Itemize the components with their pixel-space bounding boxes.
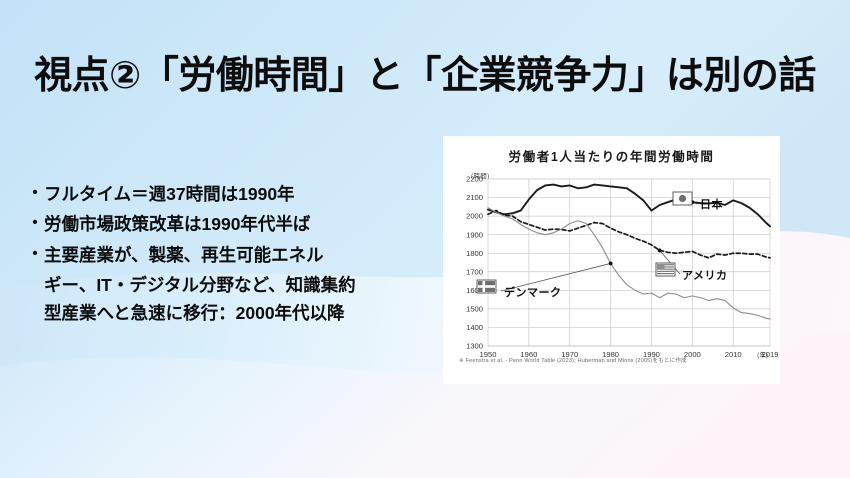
bullet-text: 労働市場政策改革は1990年代半ば: [44, 210, 426, 238]
y-tick-label: 2000: [466, 212, 483, 221]
list-item: • 主要産業が、製薬、再生可能エネル: [26, 241, 426, 269]
y-tick-label: 2200: [466, 175, 483, 184]
chart-card: 労働者1人当たりの年間労働時間 (時間) (年) 130014001500160…: [443, 136, 780, 384]
bullet-marker-icon: •: [26, 241, 44, 267]
y-tick-label: 1700: [466, 267, 483, 276]
y-tick-label: 1900: [466, 230, 483, 239]
bullet-text-continued: 型産業へと急速に移行：2000年代以降: [44, 299, 426, 327]
legend-label-usa: アメリカ: [682, 267, 727, 283]
y-tick-label: 1400: [466, 323, 483, 332]
bullet-text: 主要産業が、製薬、再生可能エネル: [44, 241, 426, 269]
bullet-marker-icon: •: [26, 180, 44, 206]
list-item: • 労働市場政策改革は1990年代半ば: [26, 210, 426, 238]
list-item: • フルタイム＝週37時間は1990年: [26, 180, 426, 208]
page-title: 視点②「労働時間」と「企業競争力」は別の話: [0, 54, 850, 99]
denmark-flag-icon: [477, 280, 496, 293]
bullet-text-continued: ギー、IT・デジタル分野など、知識集約: [44, 271, 426, 299]
bullet-list: • フルタイム＝週37時間は1990年 • 労働市場政策改革は1990年代半ば …: [26, 180, 426, 328]
chart-source-note: ※ Feenstra et al. - Penn World Table (20…: [459, 358, 779, 365]
bullet-text: フルタイム＝週37時間は1990年: [44, 180, 426, 208]
legend-label-denmark: デンマーク: [504, 284, 562, 300]
series-line-日本: [488, 185, 770, 227]
legend-label-japan: 日本: [700, 196, 723, 212]
bullet-marker-icon: •: [26, 210, 44, 236]
line-chart-plot: 1300140015001600170018001900200021002200…: [443, 136, 780, 384]
y-tick-label: 2100: [466, 193, 483, 202]
usa-flag-icon: [656, 263, 675, 276]
y-tick-label: 1800: [466, 249, 483, 258]
series-line-アメリカ: [488, 211, 770, 258]
slide-canvas: 視点②「労働時間」と「企業競争力」は別の話 • フルタイム＝週37時間は1990…: [0, 0, 850, 478]
japan-flag-icon: [673, 192, 692, 205]
y-tick-label: 1500: [466, 304, 483, 313]
